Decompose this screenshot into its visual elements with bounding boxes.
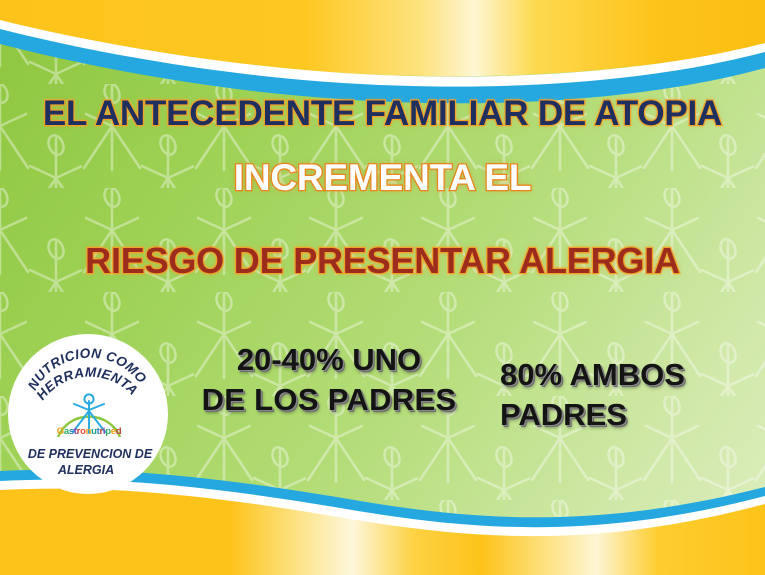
slide-canvas: EL ANTECEDENTE FAMILIAR DE ATOPIA INCREM…: [0, 0, 765, 575]
logo-emblem: Gastronutriped: [54, 391, 124, 439]
logo-wordmark: Gastronutriped: [54, 426, 124, 437]
stat-both-parents-line-2: PADRES: [500, 395, 746, 435]
stat-one-parent: 20-40% UNO DE LOS PADRES: [196, 340, 462, 419]
headline-line-3: RIESGO DE PRESENTAR ALERGIA: [0, 242, 765, 279]
stat-both-parents: 80% AMBOS PADRES: [500, 355, 746, 434]
headline-group: EL ANTECEDENTE FAMILIAR DE ATOPIA INCREM…: [0, 96, 765, 279]
logo-bottom-line-1: DE PREVENCION DE: [28, 447, 153, 461]
stat-one-parent-line-1: 20-40% UNO: [196, 340, 462, 380]
stat-one-parent-line-2: DE LOS PADRES: [196, 380, 462, 420]
logo-gastronutriped: NUTRICION COMO HERRAMIENTA DE PREVENCION…: [8, 334, 168, 494]
headline-line-2: INCREMENTA EL: [0, 159, 765, 197]
stat-both-parents-line-1: 80% AMBOS: [500, 355, 746, 395]
headline-line-1: EL ANTECEDENTE FAMILIAR DE ATOPIA: [0, 96, 765, 132]
logo-bottom-line-2: ALERGIA: [57, 463, 114, 477]
